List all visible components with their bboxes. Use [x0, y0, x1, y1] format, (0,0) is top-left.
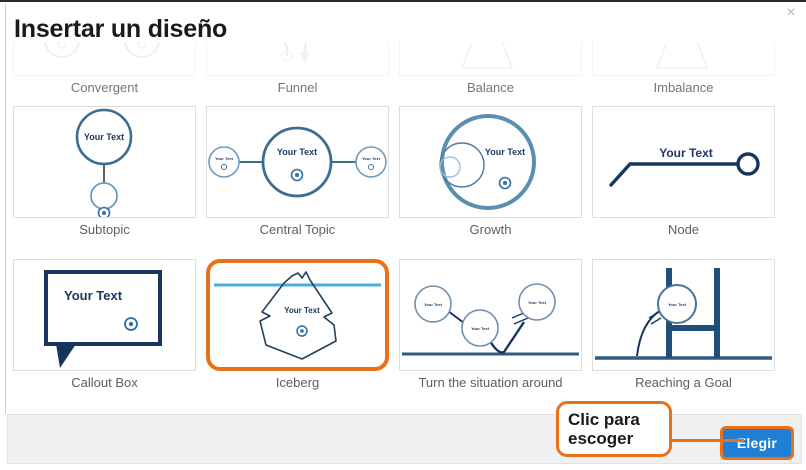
gallery-item-label: Central Topic [206, 218, 389, 237]
svg-text:Your Text: Your Text [284, 306, 320, 315]
svg-text:Your Text: Your Text [528, 300, 547, 305]
svg-text:Your Text: Your Text [64, 288, 123, 303]
thumbnail-node[interactable]: Your Text [592, 106, 775, 218]
choose-button-wrapper: Elegir [720, 426, 794, 460]
thumbnail-reaching-a-goal[interactable]: Your Text [592, 259, 775, 371]
svg-text:Your Text: Your Text [668, 302, 687, 307]
page-title: Insertar un diseño [14, 15, 227, 44]
thumbnail-iceberg[interactable]: Your Text [206, 259, 389, 371]
gallery-item-convergent[interactable]: Convergent [13, 42, 196, 95]
gallery-item-node[interactable]: Your Text Node [592, 106, 775, 237]
gallery-item-subtopic[interactable]: Your Text Subtopic [13, 106, 196, 237]
gallery-item-label: Funnel [206, 76, 389, 95]
svg-text:Your Text: Your Text [485, 147, 525, 157]
design-gallery: Convergent Funnel Balance [0, 2, 806, 412]
gallery-item-label: Growth [399, 218, 582, 237]
gallery-item-central-topic[interactable]: Your Text Your Text Your Text Central To… [206, 106, 389, 237]
gallery-item-label: Subtopic [13, 218, 196, 237]
thumbnail-convergent[interactable] [13, 42, 196, 76]
gallery-item-turn-situation-around[interactable]: Your Text Your Text Your Text Turn the s… [399, 259, 582, 390]
gallery-item-imbalance[interactable]: Imbalance [592, 42, 775, 95]
gallery-item-iceberg[interactable]: Your Text Iceberg [206, 259, 389, 390]
gallery-item-balance[interactable]: Balance [399, 42, 582, 95]
callout-text: Clic para escoger [568, 410, 660, 448]
gallery-item-label: Balance [399, 76, 582, 95]
svg-text:Your Text: Your Text [277, 147, 317, 157]
choose-button[interactable]: Elegir [720, 426, 794, 460]
close-icon[interactable]: × [782, 4, 800, 22]
thumbnail-subtopic[interactable]: Your Text [13, 106, 196, 218]
gallery-item-label: Reaching a Goal [592, 371, 775, 390]
gallery-item-label: Convergent [13, 76, 196, 95]
insert-design-dialog: Insertar un diseño × Convergent [0, 0, 806, 470]
svg-text:Your Text: Your Text [362, 156, 381, 161]
thumbnail-balance[interactable] [399, 42, 582, 76]
thumbnail-growth[interactable]: Your Text [399, 106, 582, 218]
svg-text:Your Text: Your Text [424, 302, 443, 307]
gallery-item-label: Turn the situation around [399, 371, 582, 390]
gallery-item-reaching-a-goal[interactable]: Your Text Reaching a Goal [592, 259, 775, 390]
gallery-item-label: Callout Box [13, 371, 196, 390]
svg-text:Your Text: Your Text [215, 156, 234, 161]
gallery-item-growth[interactable]: Your Text Growth [399, 106, 582, 237]
thumbnail-central-topic[interactable]: Your Text Your Text Your Text [206, 106, 389, 218]
svg-text:Your Text: Your Text [659, 146, 713, 160]
svg-text:Your Text: Your Text [84, 132, 124, 142]
gallery-item-label: Iceberg [206, 371, 389, 390]
thumbnail-turn-situation-around[interactable]: Your Text Your Text Your Text [399, 259, 582, 371]
instruction-callout: Clic para escoger [556, 401, 672, 457]
thumbnail-callout-box[interactable]: Your Text [13, 259, 196, 371]
svg-text:Your Text: Your Text [471, 326, 490, 331]
thumbnail-imbalance[interactable] [592, 42, 775, 76]
gallery-item-callout-box[interactable]: Your Text Callout Box [13, 259, 196, 390]
gallery-item-label: Imbalance [592, 76, 775, 95]
thumbnail-funnel[interactable] [206, 42, 389, 76]
gallery-item-funnel[interactable]: Funnel [206, 42, 389, 95]
callout-connector-line [670, 439, 744, 442]
gallery-item-label: Node [592, 218, 775, 237]
